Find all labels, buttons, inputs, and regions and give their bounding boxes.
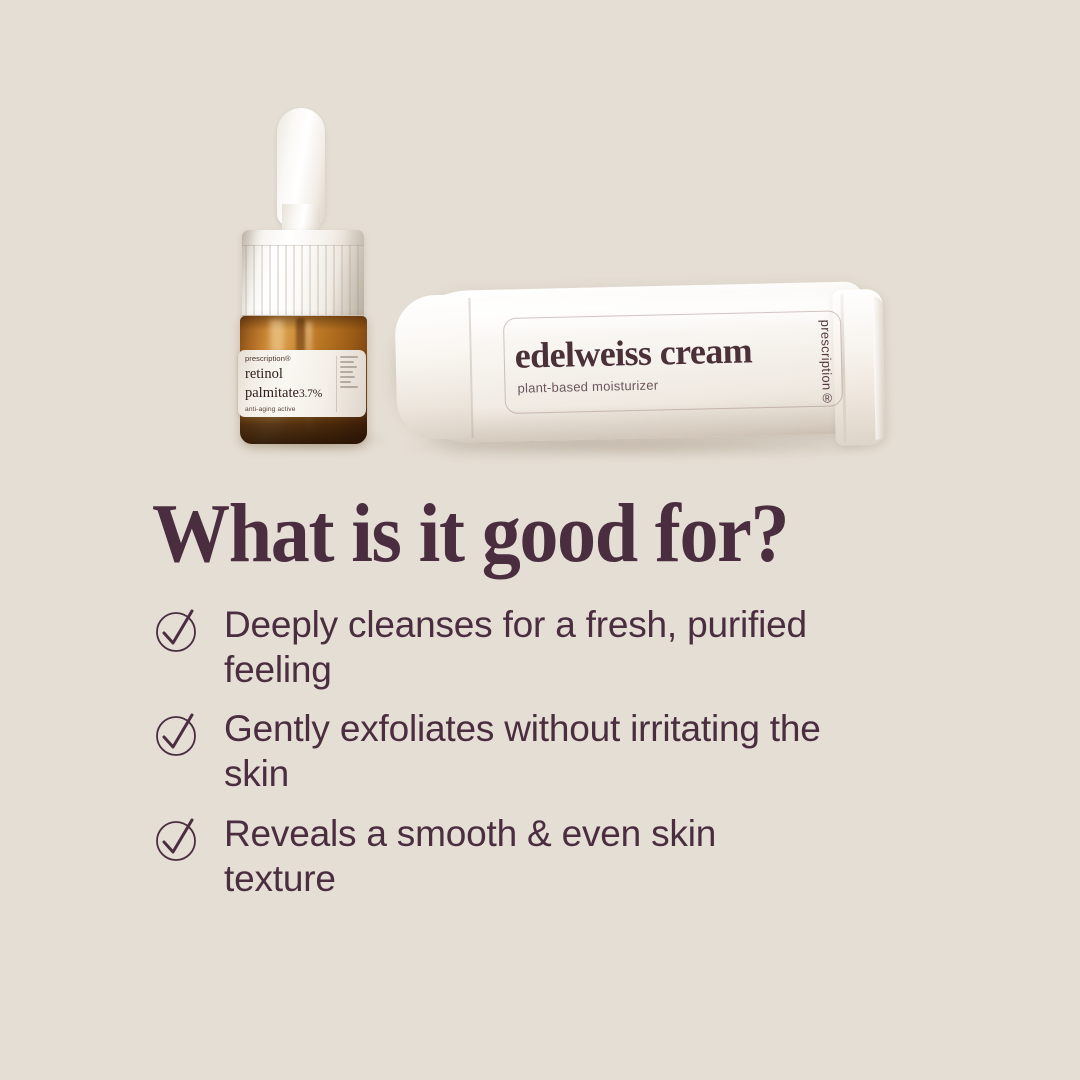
dropper-label-product-word: palmitate (245, 385, 299, 401)
cap-shading (242, 230, 364, 322)
check-circle-icon (152, 606, 202, 656)
dropper-label-product-line2: palmitate3.7% (245, 386, 331, 401)
dropper-bottle: prescription® retinol palmitate3.7% anti… (228, 108, 390, 445)
check-circle-icon (152, 815, 202, 865)
page-title: What is it good for? (152, 492, 952, 576)
tube-cap (394, 294, 471, 440)
tube-label-brand-vertical: prescription® (818, 320, 835, 406)
tube-crimp-edge (872, 296, 885, 440)
dropper-label-text-block: prescription® retinol palmitate3.7% anti… (245, 355, 331, 413)
check-circle-icon (152, 710, 202, 760)
tube-label-subtitle: plant-based moisturizer (517, 378, 658, 396)
content-block: What is it good for? Deeply cleanses for… (152, 492, 1012, 915)
dropper-label-concentration: 3.7% (299, 388, 322, 400)
tube-label-frame: edelweiss cream plant-based moisturizer … (503, 310, 843, 414)
benefit-list: Deeply cleanses for a fresh, purified fe… (152, 602, 1012, 901)
benefit-text: Deeply cleanses for a fresh, purified fe… (224, 602, 824, 692)
list-item: Reveals a smooth & even skin texture (152, 811, 1012, 901)
poster-canvas: prescription® retinol palmitate3.7% anti… (0, 0, 1080, 1080)
product-scene: prescription® retinol palmitate3.7% anti… (0, 0, 1080, 480)
dropper-bottle-label: prescription® retinol palmitate3.7% anti… (238, 350, 366, 417)
dropper-label-brand: prescription® (245, 355, 331, 363)
tube-label-title: edelweiss cream (514, 329, 752, 376)
dropper-label-descriptor: anti-aging active (245, 406, 331, 413)
benefit-text: Gently exfoliates without irritating the… (224, 706, 824, 796)
list-item: Deeply cleanses for a fresh, purified fe… (152, 602, 1012, 692)
list-item: Gently exfoliates without irritating the… (152, 706, 1012, 796)
cream-tube: edelweiss cream plant-based moisturizer … (396, 282, 890, 454)
dropper-label-ingredient-panel (336, 356, 362, 412)
dropper-label-product-line1: retinol (245, 367, 331, 382)
benefit-text: Reveals a smooth & even skin texture (224, 811, 824, 901)
dropper-cap (242, 230, 364, 322)
